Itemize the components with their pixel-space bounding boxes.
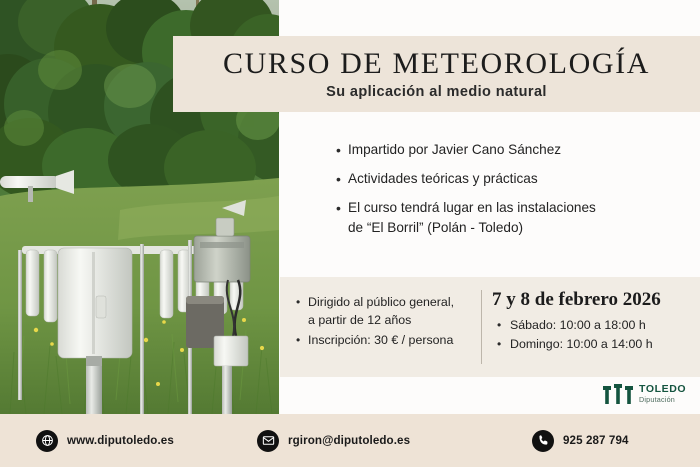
list-item-text: Sábado: 10:00 a 18:00 h	[510, 316, 646, 334]
phone-text: 925 287 794	[563, 434, 629, 447]
list-item-text: El curso tendrá lugar en las instalacion…	[348, 198, 596, 238]
envelope-icon	[257, 430, 279, 452]
list-item: • Impartido por Javier Cano Sánchez	[336, 140, 692, 160]
list-item: • El curso tendrá lugar en las instalaci…	[336, 198, 692, 238]
bullet-icon: •	[336, 198, 348, 218]
list-item-text: Dirigido al público general, a partir de…	[308, 293, 454, 329]
panel-divider	[481, 290, 482, 364]
poster-root: CURSO DE METEOROLOGÍA Su aplicación al m…	[0, 0, 700, 467]
website-text: www.diputoledo.es	[67, 434, 174, 447]
bullet-icon: •	[336, 140, 348, 160]
contact-email[interactable]: rgiron@diputoledo.es	[257, 430, 410, 452]
list-item-line-2: a partir de 12 años	[308, 311, 454, 329]
phone-icon	[532, 430, 554, 452]
logo-subtitle: Diputación	[639, 396, 686, 403]
title-band: CURSO DE METEOROLOGÍA Su aplicación al m…	[173, 36, 700, 112]
toledo-diputacion-logo: TOLEDO Diputación	[603, 384, 686, 404]
list-item-text: Inscripción: 30 € / persona	[308, 331, 453, 349]
list-item-text: Domingo: 10:00 a 14:00 h	[510, 335, 653, 353]
globe-icon	[36, 430, 58, 452]
info-panel: • Dirigido al público general, a partir …	[280, 277, 700, 377]
three-pillars-icon	[603, 384, 633, 404]
list-item: • Domingo: 10:00 a 14:00 h	[497, 335, 692, 353]
bullet-icon: •	[296, 293, 308, 311]
list-item: • Sábado: 10:00 a 18:00 h	[497, 316, 692, 334]
contact-phone[interactable]: 925 287 794	[532, 430, 629, 452]
list-item: • Actividades teóricas y prácticas	[336, 169, 692, 189]
audience-info: • Dirigido al público general, a partir …	[296, 293, 478, 351]
bullet-icon: •	[497, 316, 510, 334]
contact-website[interactable]: www.diputoledo.es	[36, 430, 174, 452]
event-date: 7 y 8 de febrero 2026	[492, 290, 692, 311]
footer-contact-bar: www.diputoledo.es rgiron@diputoledo.es 9…	[0, 414, 700, 467]
bullet-icon: •	[336, 169, 348, 189]
logo-name: TOLEDO	[639, 384, 686, 395]
list-item-line-1: El curso tendrá lugar en las instalacion…	[348, 200, 596, 215]
list-item-line-2: de “El Borril” (Polán - Toledo)	[348, 218, 596, 238]
bullet-icon: •	[296, 331, 308, 349]
date-schedule: 7 y 8 de febrero 2026 • Sábado: 10:00 a …	[492, 290, 692, 354]
bullet-icon: •	[497, 335, 510, 353]
page-subtitle: Su aplicación al medio natural	[326, 85, 547, 100]
list-item-text: Actividades teóricas y prácticas	[348, 169, 538, 189]
page-title: CURSO DE METEOROLOGÍA	[223, 49, 650, 79]
list-item-line-1: Dirigido al público general,	[308, 295, 454, 309]
list-item: • Inscripción: 30 € / persona	[296, 331, 478, 349]
email-text: rgiron@diputoledo.es	[288, 434, 410, 447]
course-details-list: • Impartido por Javier Cano Sánchez • Ac…	[336, 140, 692, 247]
list-item: • Dirigido al público general, a partir …	[296, 293, 478, 329]
list-item-text: Impartido por Javier Cano Sánchez	[348, 140, 561, 160]
logo-text: TOLEDO Diputación	[639, 384, 686, 403]
